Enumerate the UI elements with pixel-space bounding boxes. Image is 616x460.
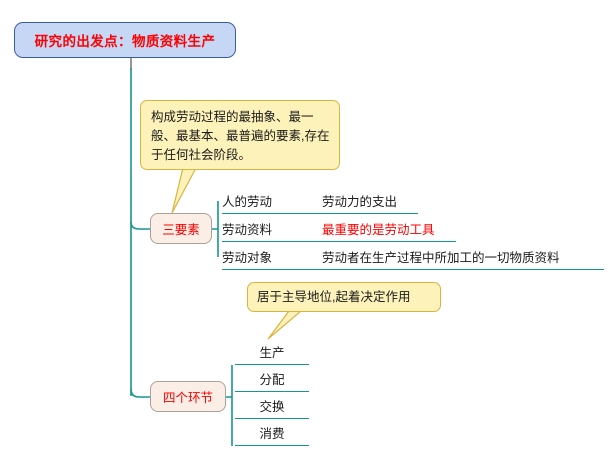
list-item-rule [235,445,309,446]
callout-four-links: 居于主导地位,起着决定作用 [247,282,441,312]
table-row: 劳动对象 劳动者在生产过程中所加工的一切物质资料 [222,242,560,270]
list-item: 分配 [235,365,309,392]
list-item-label: 分配 [259,369,284,388]
table-row: 劳动资料 最重要的是劳动工具 [222,214,560,242]
callout-three-elements: 构成劳动过程的最抽象、最一般、最基本、最普遍的要素,存在于任何社会阶段。 [140,100,340,170]
row-value: 劳动力的支出 [322,191,397,210]
branch-link-three-elements [131,222,150,229]
list-item-label: 生产 [259,342,284,361]
branch-node-four-links[interactable]: 四个环节 [150,381,226,412]
row-key: 人的劳动 [222,191,322,210]
row-rule [222,269,604,270]
callout-tail-production [268,311,301,339]
branch-node-four-links-label: 四个环节 [163,387,213,406]
list-item: 交换 [235,392,309,419]
row-value: 劳动者在生产过程中所加工的一切物质资料 [322,247,560,266]
table-row: 人的劳动 劳动力的支出 [222,186,560,214]
callout-tail-elements [172,168,196,213]
bracket-three-elements [212,201,218,257]
row-key: 劳动对象 [222,247,322,266]
list-item-label: 消费 [259,423,284,442]
four-links-list: 生产 分配 交换 消费 [235,338,309,446]
row-value: 最重要的是劳动工具 [322,219,435,238]
list-item-label: 交换 [259,396,284,415]
root-node[interactable]: 研究的出发点：物质资料生产 [14,22,236,58]
mindmap-canvas: 研究的出发点：物质资料生产 构成劳动过程的最抽象、最一般、最基本、最普遍的要素,… [0,0,616,460]
branch-node-three-elements-label: 三要素 [162,219,200,238]
list-item: 消费 [235,419,309,446]
list-item: 生产 [235,338,309,365]
row-key: 劳动资料 [222,219,322,238]
root-node-label: 研究的出发点：物质资料生产 [35,30,216,50]
bracket-four-links [226,365,232,446]
branch-link-four-links [131,389,150,397]
three-elements-table: 人的劳动 劳动力的支出 劳动资料 最重要的是劳动工具 劳动对象 劳动者在生产过程… [222,186,560,270]
branch-node-three-elements[interactable]: 三要素 [150,213,212,244]
